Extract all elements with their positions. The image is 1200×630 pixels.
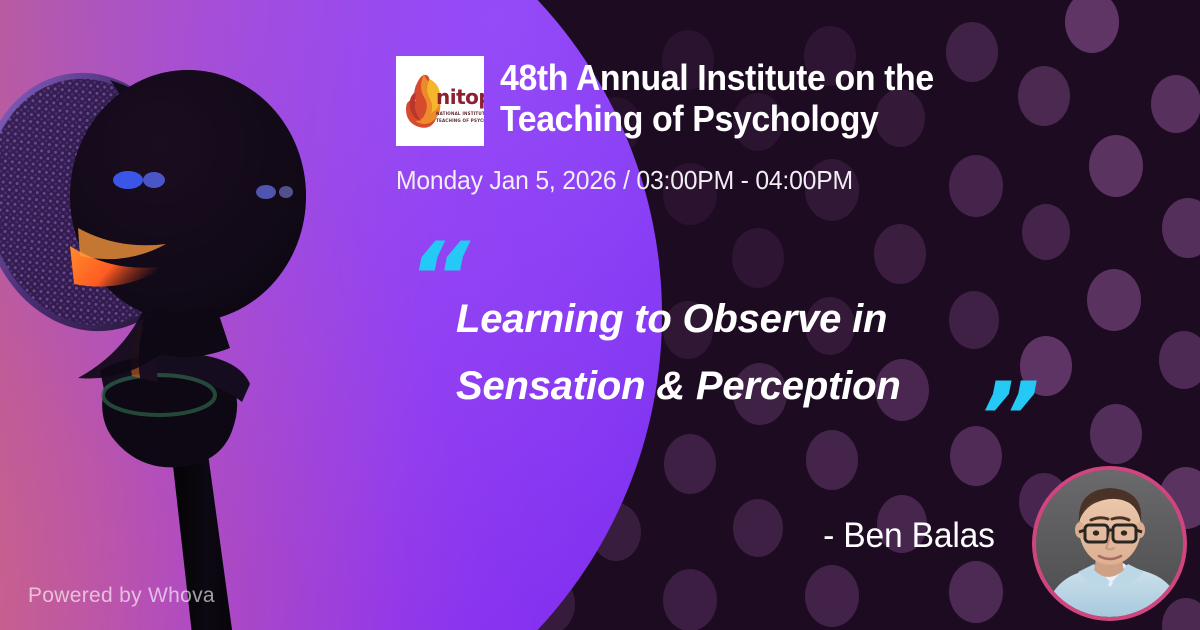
svg-text:NATIONAL INSTITUTE ON THE: NATIONAL INSTITUTE ON THE — [436, 111, 484, 116]
powered-by-whova-watermark: Powered by Whova — [28, 584, 215, 608]
event-title: 48th Annual Institute on the Teaching of… — [500, 58, 1064, 139]
event-header-text: 48th Annual Institute on the Teaching of… — [500, 56, 1100, 139]
quote-line-1: Learning to Observe in — [456, 286, 1046, 353]
svg-text:TEACHING OF PSYCHOLOGY: TEACHING OF PSYCHOLOGY — [436, 118, 484, 123]
speaker-name: - Ben Balas — [823, 516, 995, 556]
svg-text:nitop: nitop — [436, 85, 484, 109]
speaker-announcement-card: Powered by Whova nitop NATIONAL INSTITUT… — [0, 0, 1200, 630]
quote-close-icon: ” — [978, 370, 1040, 466]
quote-line-2: Sensation & Perception — [456, 353, 1046, 420]
speaker-avatar — [1032, 466, 1187, 621]
nitop-logo: nitop NATIONAL INSTITUTE ON THE TEACHING… — [396, 56, 484, 146]
event-header: nitop NATIONAL INSTITUTE ON THE TEACHING… — [396, 56, 1100, 146]
event-datetime: Monday Jan 5, 2026 / 03:00PM - 04:00PM — [396, 165, 853, 196]
session-title-quote: Learning to Observe in Sensation & Perce… — [456, 286, 1046, 420]
session-quote: “ Learning to Observe in Sensation & Per… — [408, 242, 1048, 462]
